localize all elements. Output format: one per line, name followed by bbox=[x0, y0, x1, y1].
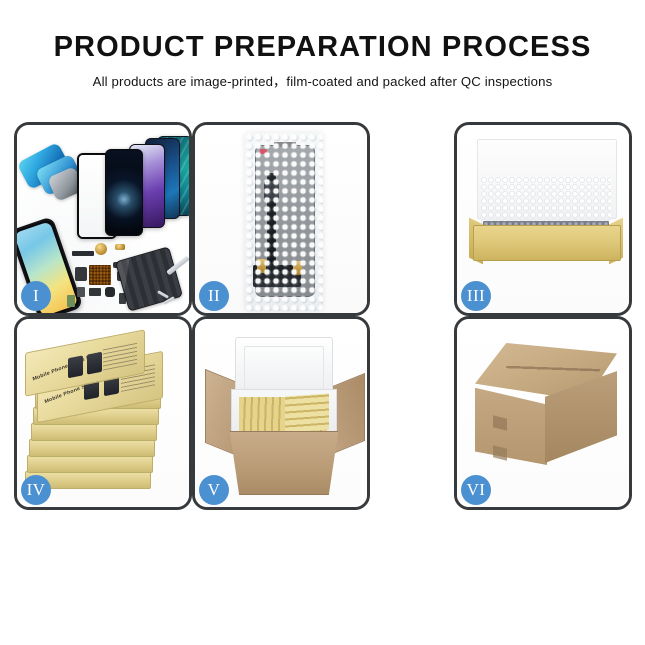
step-badge: III bbox=[461, 281, 491, 311]
box-print-phone-image bbox=[87, 352, 102, 375]
carton-front-face bbox=[475, 381, 547, 465]
panel-bubble-wrapped-screen[interactable]: II bbox=[192, 122, 370, 316]
step-badge: IV bbox=[21, 475, 51, 505]
kraft-box bbox=[29, 439, 155, 457]
camera-lens-part bbox=[95, 243, 107, 255]
page-title: PRODUCT PREPARATION PROCESS bbox=[0, 30, 645, 64]
small-part bbox=[89, 288, 101, 296]
step-badge: V bbox=[199, 475, 229, 505]
packed-kraft-boxes bbox=[285, 393, 329, 432]
grid-mesh-part bbox=[89, 265, 111, 285]
page-subtitle: All products are image-printed，film-coat… bbox=[0, 71, 645, 90]
kraft-box bbox=[31, 423, 157, 441]
flex-cable-part bbox=[75, 267, 87, 281]
box-print-phone-image bbox=[68, 355, 83, 378]
panel-stacked-boxes[interactable]: Mobile Phone Spare Parts Mobile Phone Sp… bbox=[14, 316, 192, 510]
small-part bbox=[72, 251, 94, 256]
box-print-text-lines bbox=[103, 342, 137, 371]
speaker-part bbox=[105, 287, 115, 297]
panel-carton-with-foam[interactable]: V bbox=[192, 316, 370, 510]
step-badge: VI bbox=[461, 475, 491, 505]
panel-sealed-carton[interactable]: VI bbox=[454, 316, 632, 510]
panel-open-inner-box[interactable]: III bbox=[454, 122, 632, 316]
panel-parts-collage[interactable]: I bbox=[14, 122, 192, 316]
step-badge: II bbox=[199, 281, 229, 311]
battery-part bbox=[67, 295, 75, 307]
step-badge: I bbox=[21, 281, 51, 311]
phone-display bbox=[105, 149, 143, 236]
bubble-texture bbox=[245, 133, 323, 311]
carton-front-panel bbox=[225, 431, 343, 495]
kraft-box-body bbox=[473, 225, 621, 261]
process-step-grid: I II bbox=[14, 122, 632, 584]
small-part bbox=[77, 287, 85, 297]
small-part bbox=[115, 244, 125, 250]
bubble-wrap-bag bbox=[245, 133, 323, 311]
header: PRODUCT PREPARATION PROCESS All products… bbox=[0, 0, 645, 90]
kraft-box bbox=[27, 455, 153, 473]
styrofoam-lid bbox=[235, 337, 333, 397]
carton-tape-patch bbox=[493, 445, 507, 460]
